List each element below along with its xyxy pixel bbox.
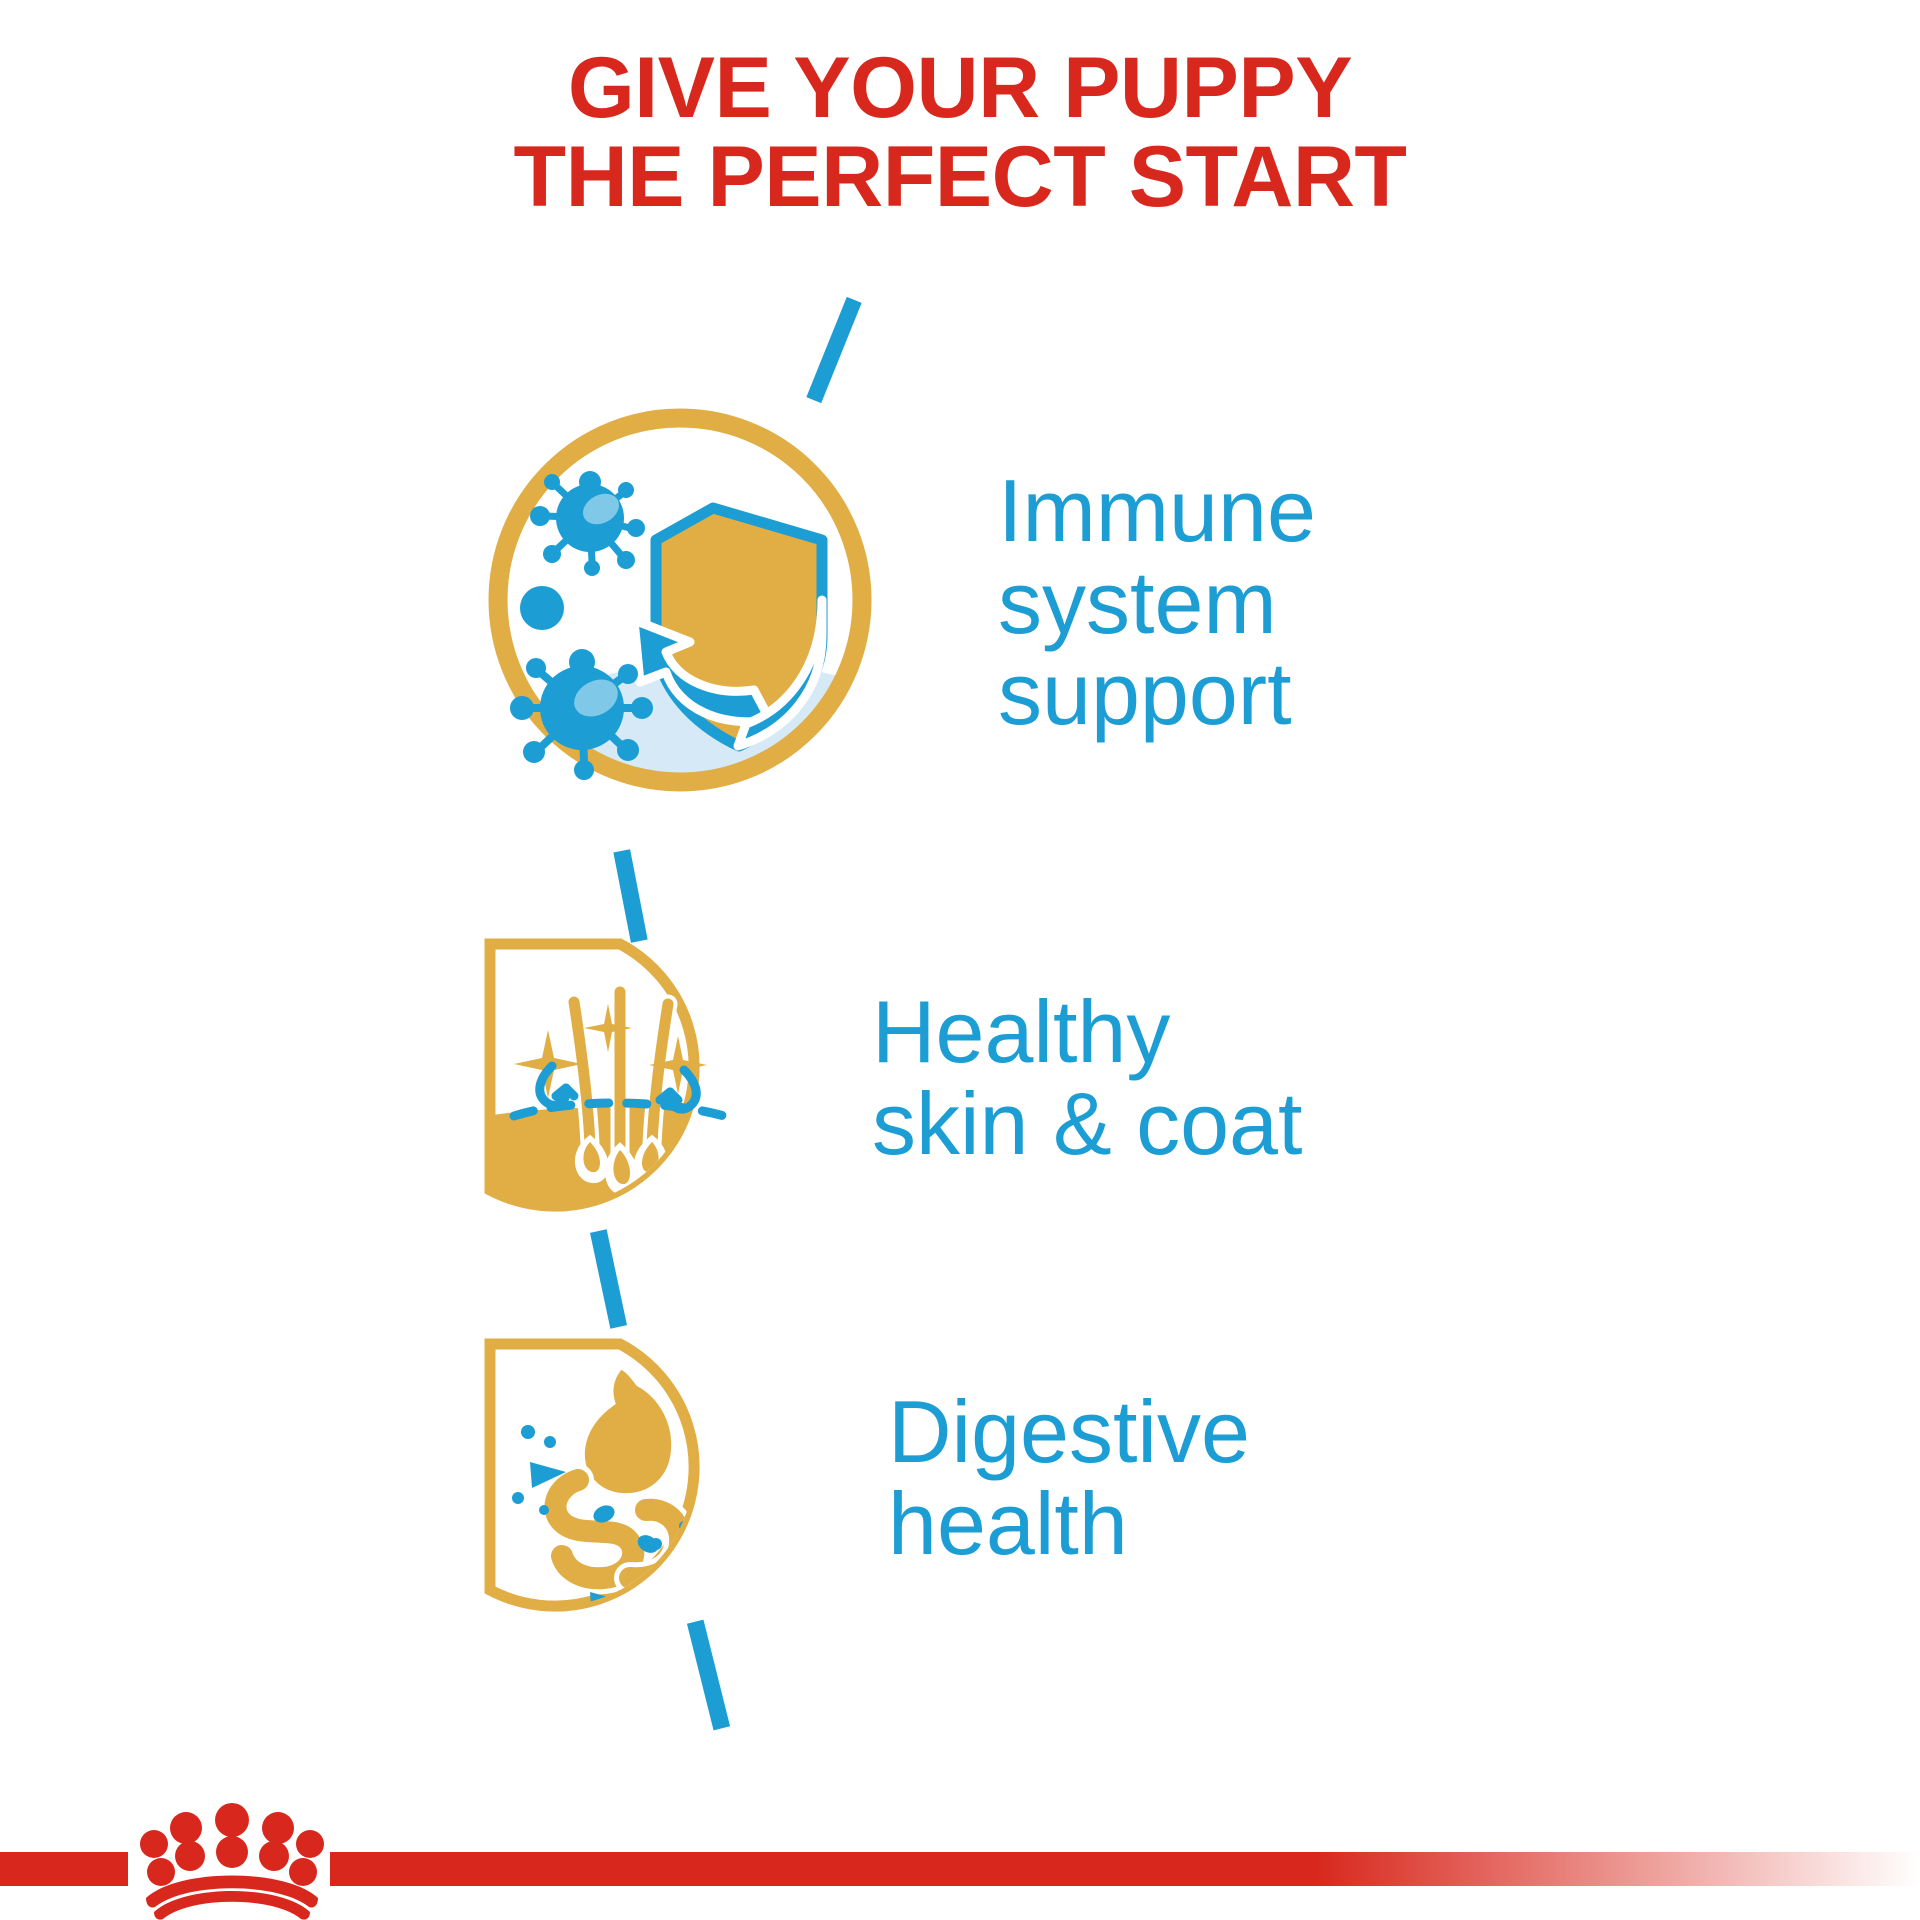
connector-dash-2 <box>590 1229 627 1328</box>
immune-shield-virus-icon <box>470 390 890 815</box>
connector-dash-1 <box>613 849 647 943</box>
footer-brand-bar <box>0 1800 1920 1920</box>
footer-bar-left-segment <box>0 1852 128 1886</box>
connector-dash-3 <box>687 1620 730 1731</box>
page-title: GIVE YOUR PUPPY THE PERFECT START <box>0 44 1920 223</box>
hair-follicle-skin-icon <box>470 930 770 1225</box>
connector-dash-top <box>806 297 861 403</box>
feature-label-immune-system-support: Immune system support <box>998 465 1316 740</box>
feature-1-line-1: Immune <box>998 465 1316 557</box>
feature-row-digestive-health: Digestive health <box>470 1330 1250 1625</box>
headline-line-2: THE PERFECT START <box>0 133 1920 222</box>
headline-line-1: GIVE YOUR PUPPY <box>0 44 1920 133</box>
royal-canin-crown-logo <box>128 1800 336 1920</box>
poster-root: GIVE YOUR PUPPY THE PERFECT START <box>0 0 1920 1920</box>
footer-bar-right-segment <box>330 1852 1920 1886</box>
feature-row-healthy-skin-and-coat: Healthy skin & coat <box>470 930 1302 1225</box>
virus-upper <box>530 471 645 576</box>
feature-2-line-2: skin & coat <box>872 1078 1302 1170</box>
feature-2-line-1: Healthy <box>872 986 1302 1078</box>
virus-dot <box>520 586 564 630</box>
feature-3-line-2: health <box>888 1478 1250 1570</box>
stomach-intestine-icon <box>470 1330 770 1625</box>
feature-row-immune-system-support: Immune system support <box>470 390 1316 815</box>
feature-label-healthy-skin-and-coat: Healthy skin & coat <box>872 986 1302 1169</box>
feature-3-line-1: Digestive <box>888 1386 1250 1478</box>
feature-1-line-3: support <box>998 648 1316 740</box>
feature-1-line-2: system <box>998 557 1316 649</box>
feature-label-digestive-health: Digestive health <box>888 1386 1250 1569</box>
